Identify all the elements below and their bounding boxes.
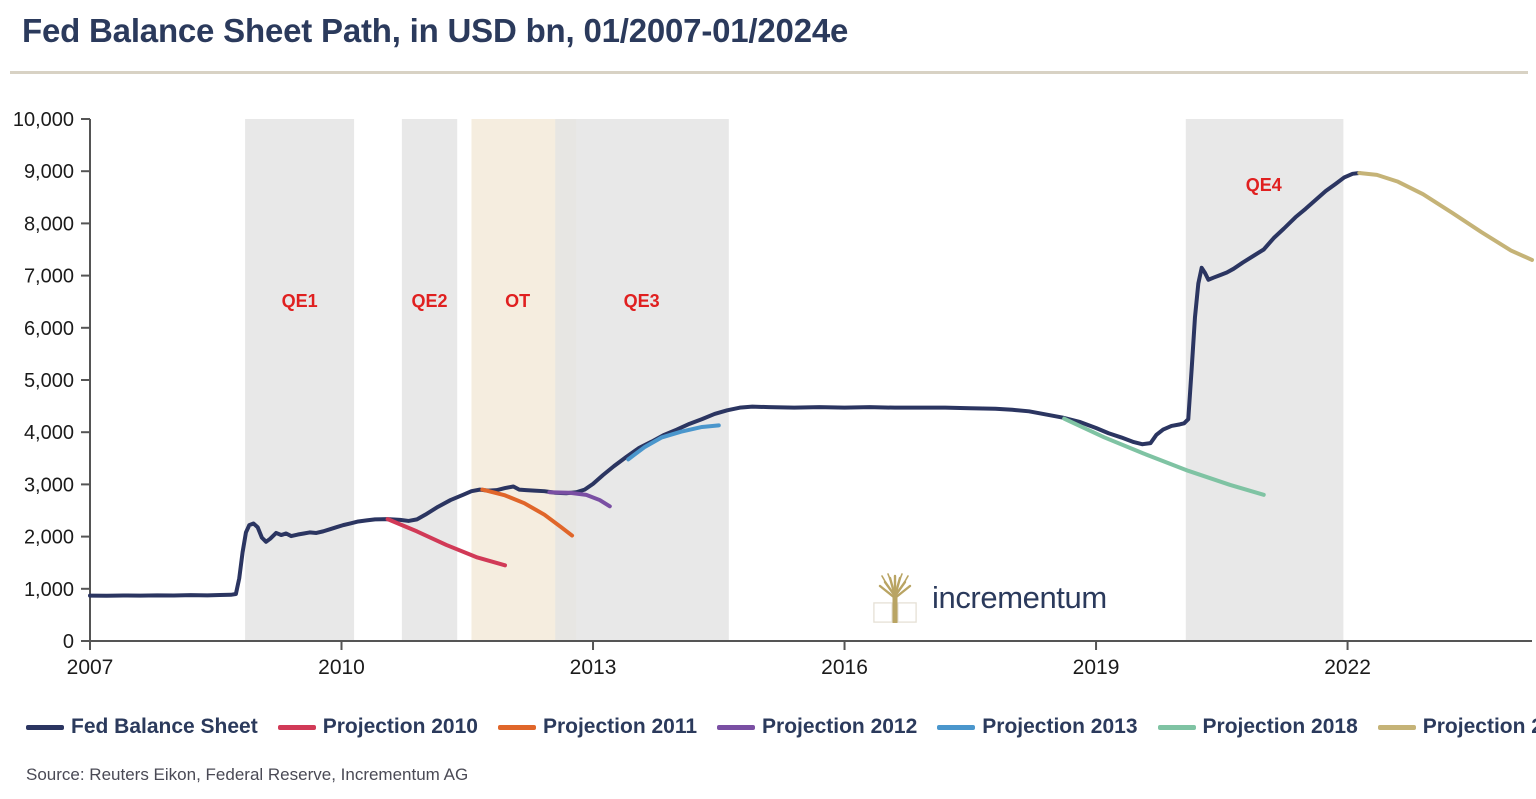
tree-icon [872, 572, 918, 624]
line-chart: QE1QE2OTQE3QE401,0002,0003,0004,0005,000… [0, 0, 1536, 700]
incrementum-logo: incrementum [872, 572, 1107, 624]
legend-label: Projection 2010 [323, 715, 478, 739]
legend-item[interactable]: Projection 2012 [717, 715, 917, 739]
legend-item[interactable]: Fed Balance Sheet [26, 715, 258, 739]
x-tick-label: 2019 [1073, 656, 1120, 679]
shaded-band-qe2 [402, 119, 457, 641]
shaded-band-qe3 [555, 119, 729, 641]
legend-swatch [498, 725, 536, 730]
y-tick-label: 8,000 [24, 213, 74, 235]
legend-swatch [937, 725, 975, 730]
legend-label: Projection 2022 [1423, 715, 1536, 739]
legend-label: Projection 2013 [982, 715, 1137, 739]
band-label-qe2: QE2 [412, 291, 448, 311]
x-tick-label: 2013 [570, 656, 617, 679]
x-tick-label: 2010 [318, 656, 365, 679]
legend-swatch [717, 725, 755, 730]
y-tick-label: 1,000 [24, 579, 74, 601]
band-label-qe3: QE3 [624, 291, 660, 311]
y-tick-label: 0 [63, 631, 74, 653]
x-tick-label: 2016 [821, 656, 868, 679]
legend-swatch [278, 725, 316, 730]
legend-swatch [1378, 725, 1416, 730]
chart-legend: Fed Balance SheetProjection 2010Projecti… [26, 715, 1536, 739]
y-tick-label: 5,000 [24, 370, 74, 392]
band-label-qe4: QE4 [1246, 175, 1282, 195]
legend-label: Projection 2012 [762, 715, 917, 739]
y-tick-label: 9,000 [24, 161, 74, 183]
legend-swatch [1158, 725, 1196, 730]
y-tick-label: 6,000 [24, 318, 74, 340]
legend-item[interactable]: Projection 2011 [498, 715, 697, 739]
legend-item[interactable]: Projection 2018 [1158, 715, 1358, 739]
y-tick-label: 10,000 [13, 109, 74, 131]
legend-label: Projection 2011 [543, 715, 697, 739]
source-note: Source: Reuters Eikon, Federal Reserve, … [26, 765, 468, 785]
series-line-projection-2022 [1359, 173, 1532, 260]
x-tick-label: 2022 [1324, 656, 1371, 679]
logo-wordmark: incrementum [932, 580, 1107, 616]
y-tick-label: 3,000 [24, 474, 74, 496]
legend-item[interactable]: Projection 2010 [278, 715, 478, 739]
legend-label: Fed Balance Sheet [71, 715, 258, 739]
legend-label: Projection 2018 [1203, 715, 1358, 739]
band-label-qe1: QE1 [282, 291, 318, 311]
legend-item[interactable]: Projection 2022 [1378, 715, 1536, 739]
legend-item[interactable]: Projection 2013 [937, 715, 1137, 739]
legend-swatch [26, 725, 64, 730]
band-label-ot: OT [505, 291, 530, 311]
y-tick-label: 4,000 [24, 422, 74, 444]
y-tick-label: 7,000 [24, 266, 74, 288]
x-tick-label: 2007 [67, 656, 114, 679]
y-tick-label: 2,000 [24, 527, 74, 549]
chart-plot-area: QE1QE2OTQE3QE401,0002,0003,0004,0005,000… [0, 0, 1536, 799]
shaded-band-qe1 [245, 119, 354, 641]
